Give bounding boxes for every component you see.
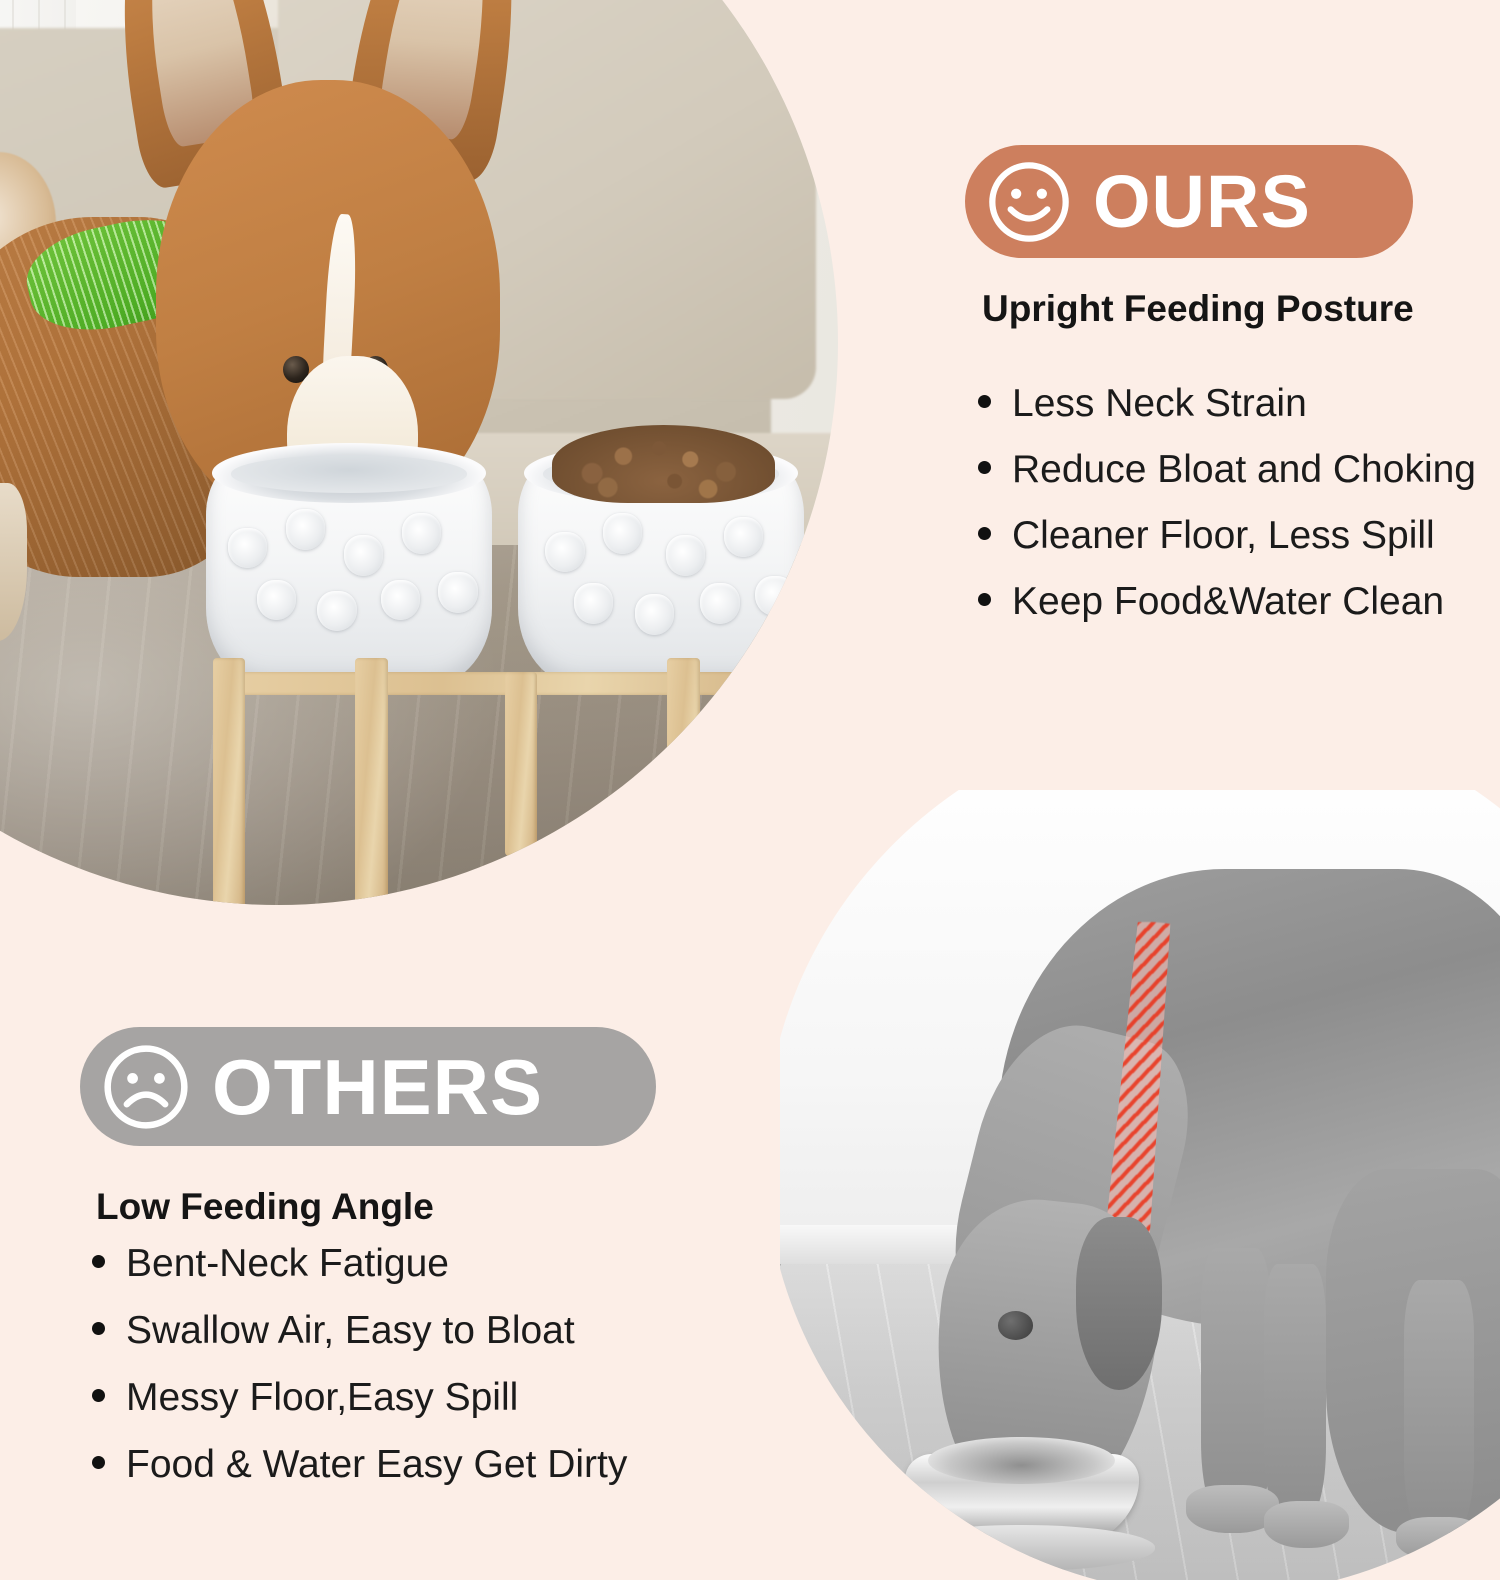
bamboo-leg xyxy=(797,658,829,916)
list-item-label: Food & Water Easy Get Dirty xyxy=(126,1443,627,1487)
bullet-dot-icon xyxy=(978,593,991,606)
list-item: Messy Floor,Easy Spill xyxy=(92,1376,627,1420)
bamboo-leg xyxy=(213,658,245,916)
ceramic-water-bowl xyxy=(206,455,492,686)
bamboo-leg xyxy=(355,658,387,916)
stainless-steel-floor-bowl xyxy=(905,1454,1139,1557)
others-badge: OTHERS xyxy=(80,1027,656,1146)
list-item-label: Less Neck Strain xyxy=(1012,382,1307,426)
paw-print-pattern xyxy=(529,487,792,672)
others-drawback-list: Bent-Neck Fatigue Swallow Air, Easy to B… xyxy=(92,1242,627,1510)
dog-front-leg xyxy=(1201,1248,1271,1517)
bullet-dot-icon xyxy=(978,395,991,408)
paw-print-pattern xyxy=(218,487,481,672)
bullet-dot-icon xyxy=(92,1322,105,1335)
ours-badge: OURS xyxy=(965,145,1413,258)
others-product-photo xyxy=(780,790,1500,1580)
dog-paw xyxy=(1264,1501,1350,1548)
dog-back-leg xyxy=(1404,1280,1474,1533)
list-item: Keep Food&Water Clean xyxy=(978,580,1476,624)
list-item: Less Neck Strain xyxy=(978,382,1476,426)
bullet-dot-icon xyxy=(92,1456,105,1469)
bullet-dot-icon xyxy=(92,1255,105,1268)
list-item-label: Messy Floor,Easy Spill xyxy=(126,1376,518,1420)
list-item-label: Cleaner Floor, Less Spill xyxy=(1012,514,1435,558)
bamboo-leg xyxy=(667,658,699,916)
elevated-bowl-stand xyxy=(200,455,850,916)
dog-front-leg xyxy=(1264,1264,1326,1517)
bullet-dot-icon xyxy=(92,1389,105,1402)
ours-subtitle: Upright Feeding Posture xyxy=(982,288,1414,330)
list-item: Food & Water Easy Get Dirty xyxy=(92,1443,627,1487)
list-item-label: Keep Food&Water Clean xyxy=(1012,580,1444,624)
dog-paw xyxy=(1396,1517,1482,1560)
list-item: Reduce Bloat and Choking xyxy=(978,448,1476,492)
dog-ear xyxy=(1076,1217,1162,1391)
ours-benefit-list: Less Neck Strain Reduce Bloat and Chokin… xyxy=(978,382,1476,646)
ours-badge-label: OURS xyxy=(1093,165,1311,239)
list-item-label: Reduce Bloat and Choking xyxy=(1012,448,1476,492)
ceramic-food-bowl xyxy=(518,455,804,686)
bullet-dot-icon xyxy=(978,527,991,540)
list-item: Cleaner Floor, Less Spill xyxy=(978,514,1476,558)
others-subtitle: Low Feeding Angle xyxy=(96,1186,434,1228)
sad-face-icon xyxy=(100,1041,192,1133)
bamboo-center-support xyxy=(505,672,537,857)
others-badge-label: OTHERS xyxy=(212,1048,543,1126)
ours-product-photo xyxy=(0,0,950,995)
smiley-face-icon xyxy=(985,158,1073,246)
ours-photo-scene xyxy=(0,0,950,995)
bullet-dot-icon xyxy=(978,461,991,474)
list-item: Swallow Air, Easy to Bloat xyxy=(92,1309,627,1353)
list-item-label: Swallow Air, Easy to Bloat xyxy=(126,1309,575,1353)
list-item-label: Bent-Neck Fatigue xyxy=(126,1242,449,1286)
list-item: Bent-Neck Fatigue xyxy=(92,1242,627,1286)
